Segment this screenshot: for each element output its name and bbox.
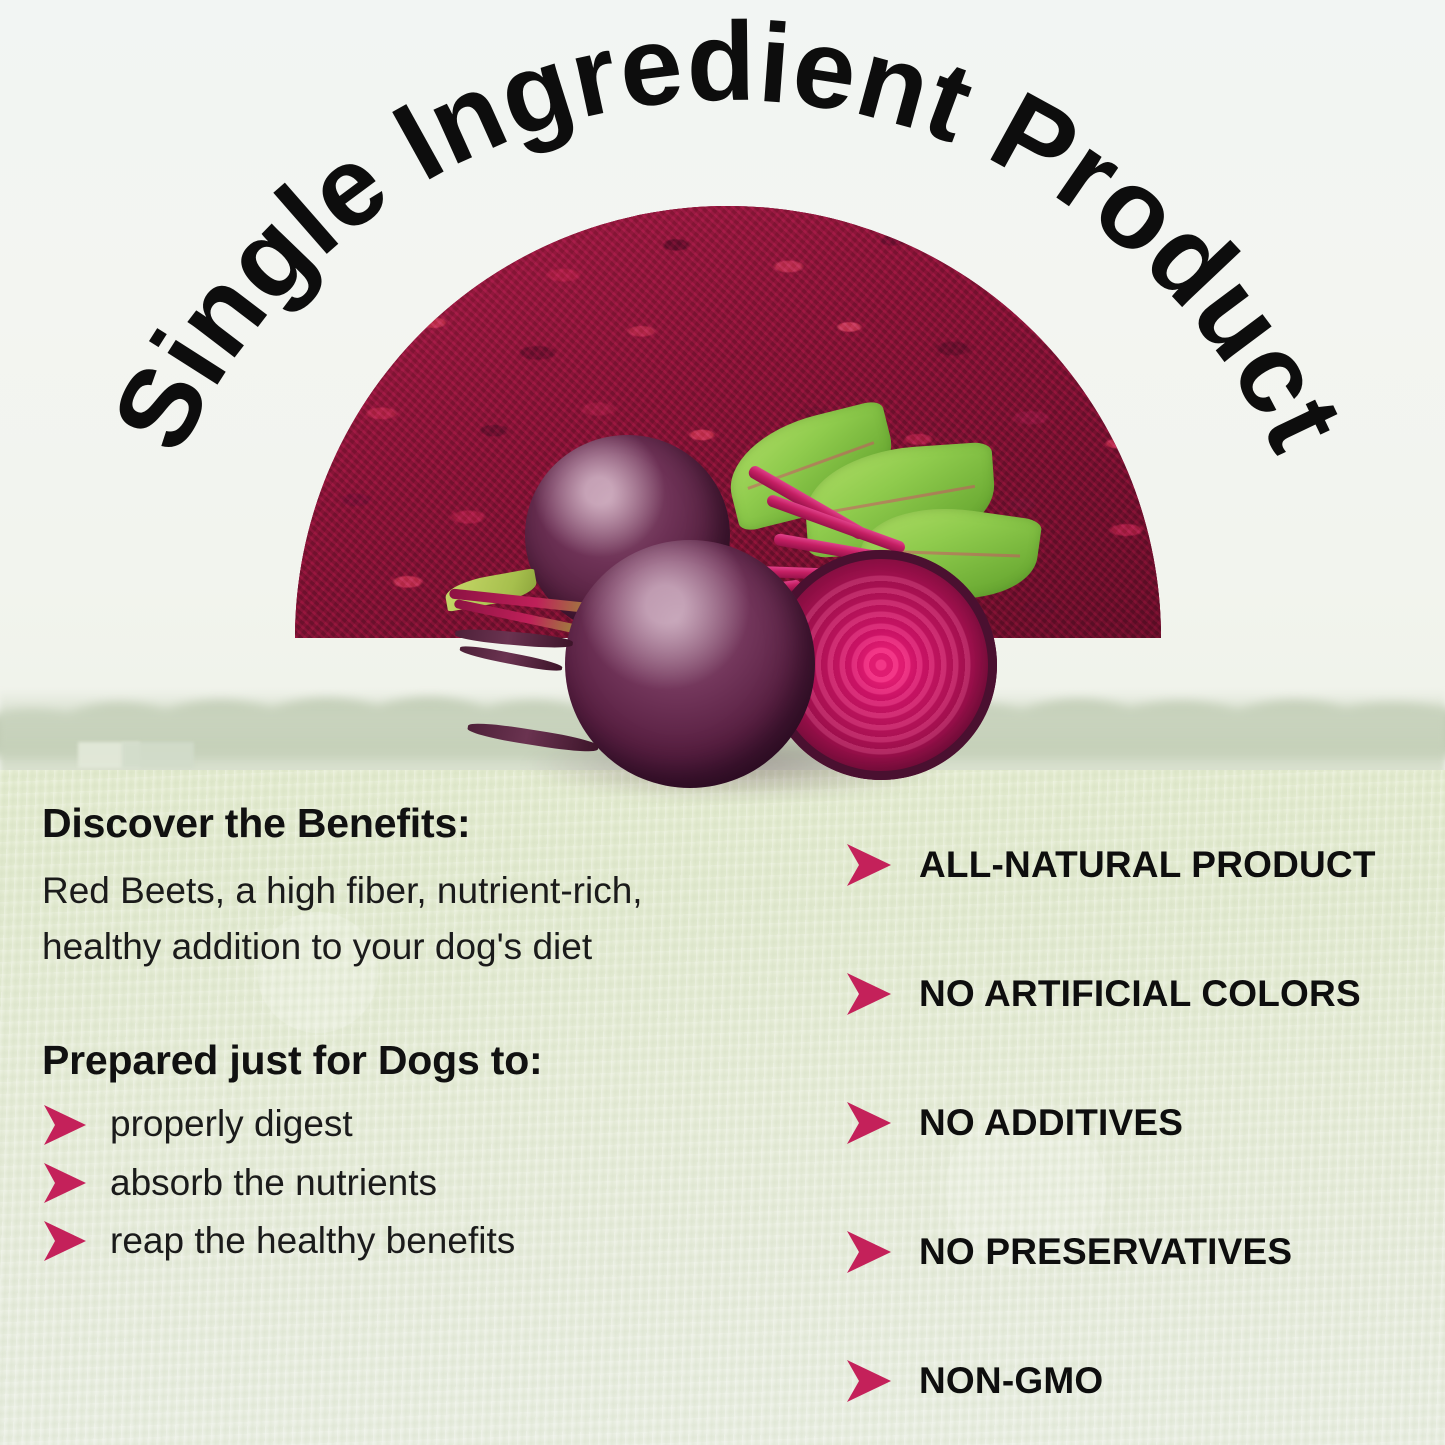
- arrow-bullet-icon: [42, 1219, 88, 1263]
- arrow-bullet-icon: [845, 1100, 893, 1146]
- list-item-label: NON-GMO: [919, 1360, 1103, 1402]
- list-item-label: NO ADDITIVES: [919, 1102, 1183, 1144]
- list-item: absorb the nutrients: [42, 1159, 732, 1207]
- list-item-label: NO PRESERVATIVES: [919, 1231, 1292, 1273]
- list-item-label: NO ARTIFICIAL COLORS: [919, 973, 1361, 1015]
- features-list: ALL-NATURAL PRODUCT NO ARTIFICIAL COLORS…: [845, 800, 1445, 1445]
- arrow-bullet-icon: [42, 1161, 88, 1205]
- list-item-label: properly digest: [110, 1100, 353, 1148]
- arrow-bullet-icon: [845, 842, 893, 888]
- arrow-bullet-icon: [42, 1103, 88, 1147]
- list-item: NO ARTIFICIAL COLORS: [845, 929, 1445, 1058]
- arrow-bullet-icon: [845, 971, 893, 1017]
- arrow-bullet-icon: [845, 1229, 893, 1275]
- list-item-label: absorb the nutrients: [110, 1159, 437, 1207]
- fresh-beets-image: [455, 400, 1015, 820]
- beet-root-tail: [459, 643, 563, 674]
- list-item-label: ALL-NATURAL PRODUCT: [919, 844, 1376, 886]
- list-item: NO ADDITIVES: [845, 1058, 1445, 1187]
- benefits-column: Discover the Benefits: Red Beets, a high…: [42, 800, 732, 1275]
- list-item: NO PRESERVATIVES: [845, 1187, 1445, 1316]
- prepared-heading: Prepared just for Dogs to:: [42, 1037, 732, 1084]
- features-column: ALL-NATURAL PRODUCT NO ARTIFICIAL COLORS…: [845, 800, 1445, 1445]
- benefits-heading: Discover the Benefits:: [42, 800, 732, 847]
- background-barn-right: [122, 742, 194, 768]
- list-item: NON-GMO: [845, 1316, 1445, 1445]
- list-item: properly digest: [42, 1100, 732, 1148]
- list-item-label: reap the healthy benefits: [110, 1217, 515, 1265]
- whole-beet-front: [565, 540, 815, 788]
- list-item: reap the healthy benefits: [42, 1217, 732, 1265]
- arrow-bullet-icon: [845, 1358, 893, 1404]
- benefits-body-text: Red Beets, a high fiber, nutrient-rich, …: [42, 863, 702, 975]
- prepared-list: properly digest absorb the nutrients rea…: [42, 1100, 732, 1264]
- list-item: ALL-NATURAL PRODUCT: [845, 800, 1445, 929]
- product-infographic: Single Ingredient Product Discover the B…: [0, 0, 1445, 1445]
- content-area: Discover the Benefits: Red Beets, a high…: [0, 800, 1445, 1445]
